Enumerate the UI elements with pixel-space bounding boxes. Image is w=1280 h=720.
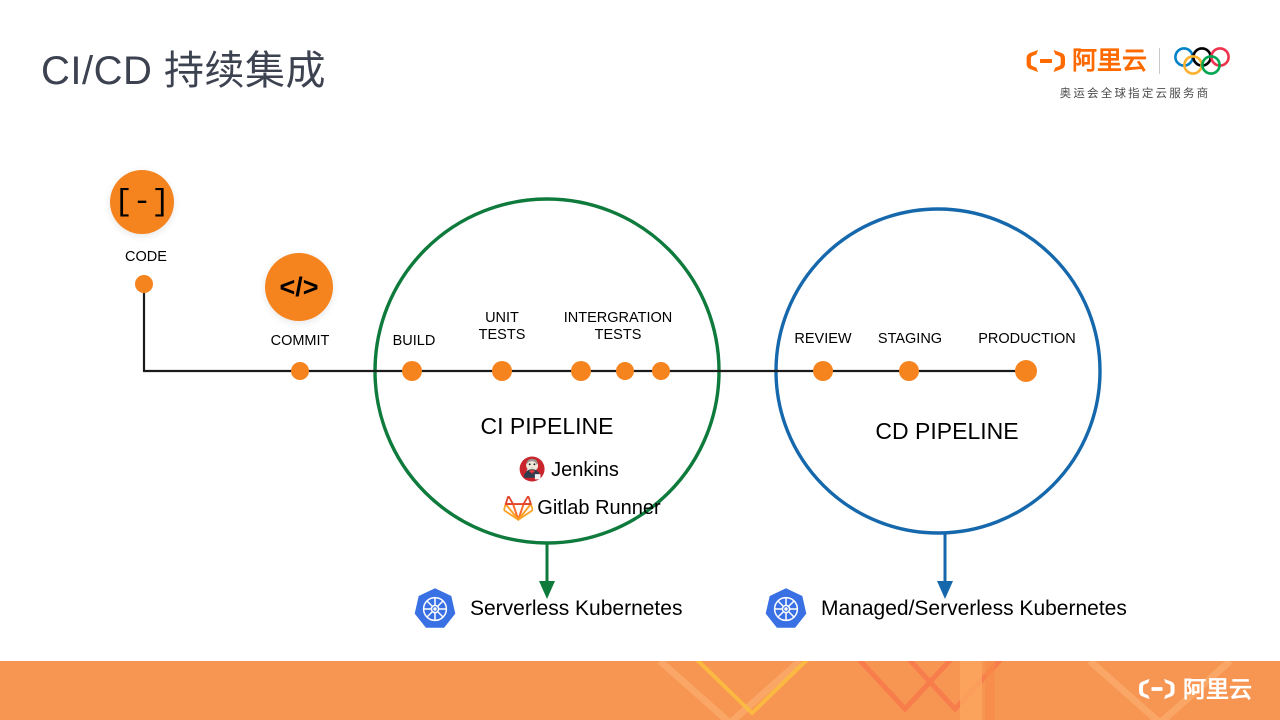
cd-pipeline-title: CD PIPELINE	[875, 418, 1018, 445]
ci-target-label: Serverless Kubernetes	[470, 597, 682, 621]
timeline-dot-integration-tests-2	[616, 362, 634, 380]
timeline-dot-staging	[899, 361, 919, 381]
timeline-dot-code	[135, 275, 153, 293]
timeline-dot-build	[402, 361, 422, 381]
stage-label-production: PRODUCTION	[978, 331, 1075, 348]
slide-canvas: CI/CD 持续集成 阿里云	[0, 0, 1280, 720]
code-tag-icon: </>	[279, 272, 318, 303]
timeline-dot-unit-tests	[492, 361, 512, 381]
footer-bar: 阿里云	[0, 661, 1280, 720]
kubernetes-helm-icon	[763, 586, 809, 632]
stage-label-unit-tests: UNIT TESTS	[479, 310, 526, 344]
gitlab-tanuki-icon	[503, 493, 533, 523]
stage-label-integration-tests: INTERGRATION TESTS	[564, 310, 672, 344]
ci-tool-label-gitlab-runner: Gitlab Runner	[537, 497, 660, 520]
stage-label-build: BUILD	[393, 333, 436, 350]
alibaba-cloud-logo-icon	[1138, 677, 1176, 701]
kubernetes-helm-icon	[412, 586, 458, 632]
ci-tool-jenkins: Jenkins	[517, 455, 619, 485]
timeline-dot-review	[813, 361, 833, 381]
commit-node-label: COMMIT	[271, 333, 330, 350]
jenkins-butler-icon	[517, 455, 547, 485]
timeline-dot-commit	[291, 362, 309, 380]
ci-target-serverless-kubernetes: Serverless Kubernetes	[412, 586, 682, 632]
stage-label-review: REVIEW	[794, 331, 851, 348]
ci-tool-gitlab-runner: Gitlab Runner	[503, 493, 660, 523]
timeline-dot-integration-tests-3	[652, 362, 670, 380]
timeline-dot-integration-tests-1	[571, 361, 591, 381]
stage-label-staging: STAGING	[878, 331, 942, 348]
ci-tool-label-jenkins: Jenkins	[551, 459, 619, 482]
footer-chevron-pattern	[0, 661, 1280, 720]
cd-target-managed-serverless-kubernetes: Managed/Serverless Kubernetes	[763, 586, 1127, 632]
ci-pipeline-title: CI PIPELINE	[481, 413, 614, 440]
footer-brand-name-cn: 阿里云	[1183, 678, 1252, 701]
commit-node-icon[interactable]: </>	[265, 253, 333, 321]
code-node-label: CODE	[125, 249, 167, 266]
code-brackets-icon: [-]	[114, 185, 170, 220]
code-node-icon[interactable]: [-]	[110, 170, 174, 234]
cd-target-label: Managed/Serverless Kubernetes	[821, 597, 1127, 621]
timeline-dot-production	[1015, 360, 1037, 382]
footer-alibaba-cloud-logo: 阿里云	[1138, 677, 1252, 701]
